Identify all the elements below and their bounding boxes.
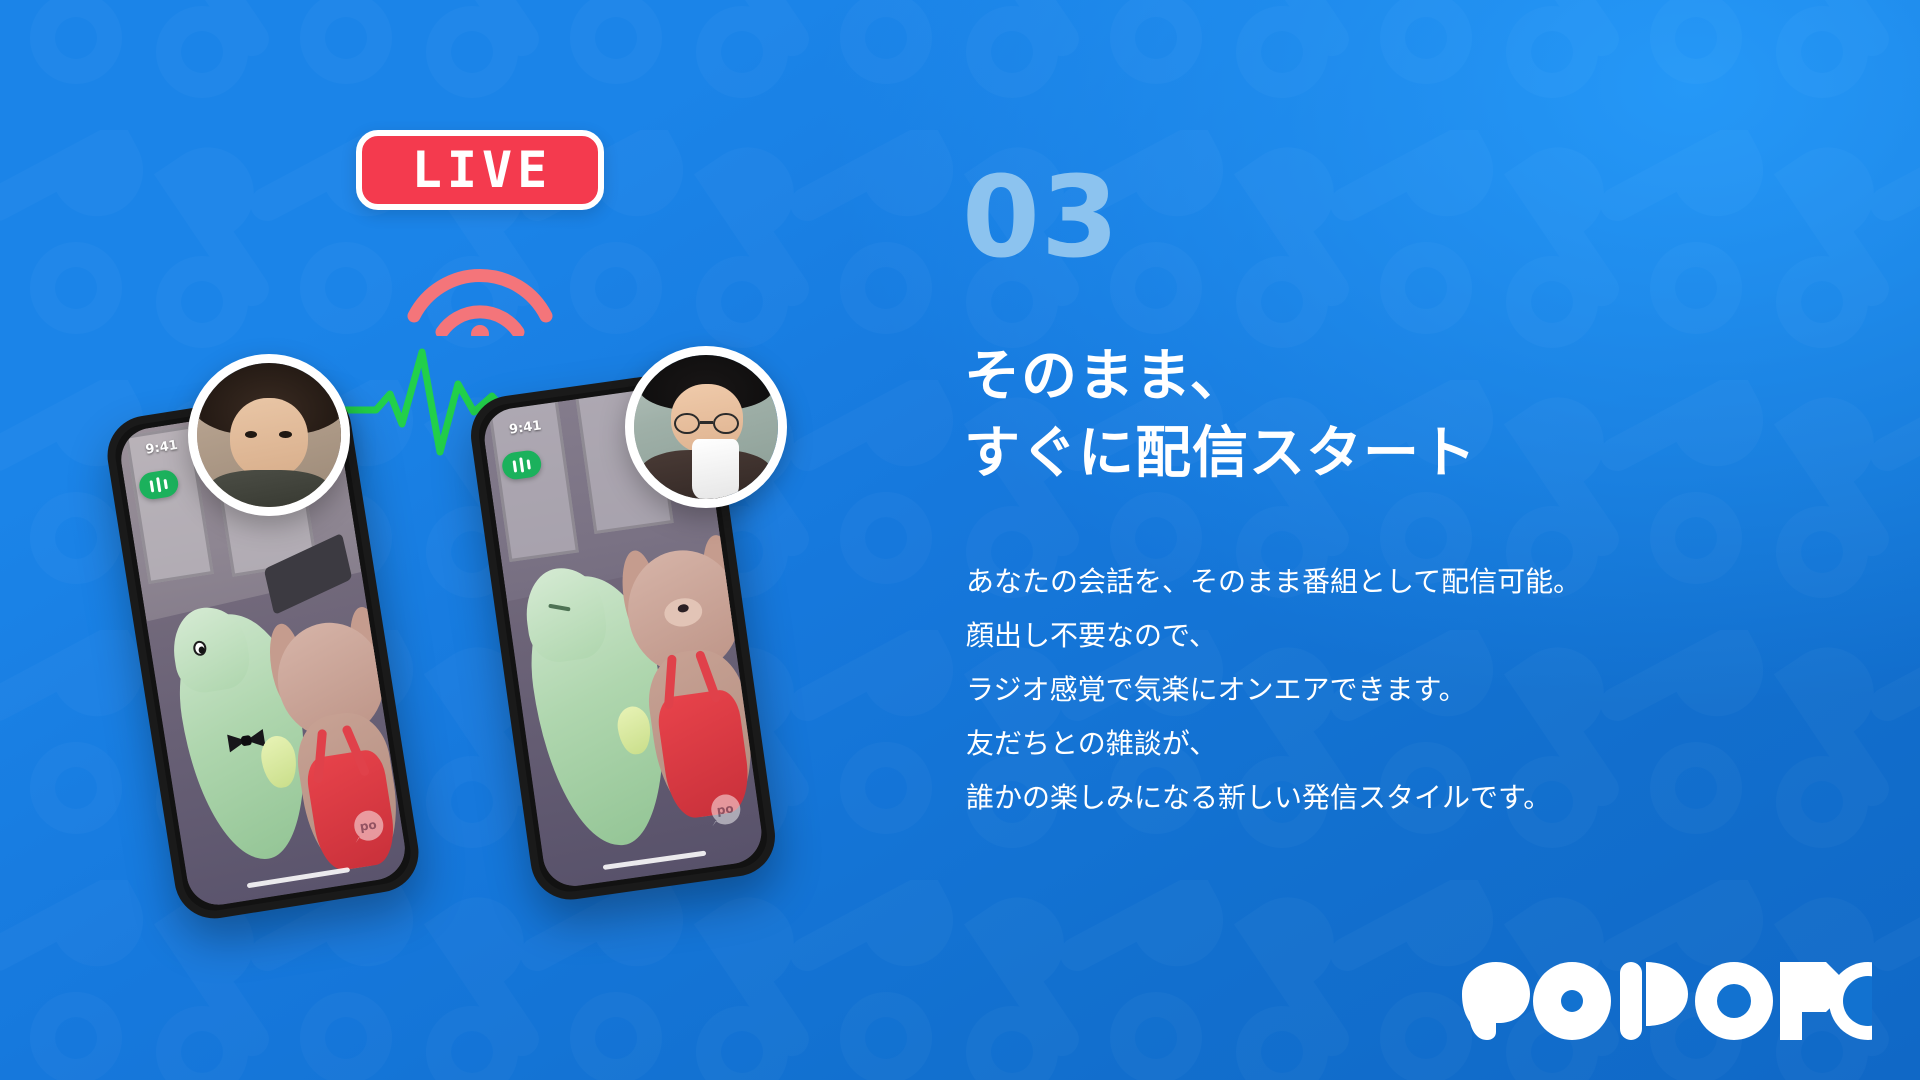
svg-text:po: po: [716, 801, 735, 817]
body-line: 顔出し不要なので、: [966, 622, 1581, 650]
live-badge: LIVE: [356, 130, 604, 210]
body-line: ラジオ感覚で気楽にオンエアできます。: [966, 676, 1581, 704]
content-column: 03 そのまま、 すぐに配信スタート あなたの会話を、そのまま番組として配信可能…: [962, 0, 1920, 1080]
avatar-speaker-left: [188, 354, 350, 516]
body-line: 友だちとの雑談が、: [966, 730, 1581, 758]
svg-text:po: po: [359, 817, 378, 833]
live-badge-label: LIVE: [408, 145, 552, 195]
brand-logo-popopo: [1460, 962, 1872, 1040]
avatar-speaker-right: [625, 346, 787, 508]
step-number: 03: [962, 162, 1120, 274]
illustration-area: LIVE: [0, 0, 880, 1080]
po-watermark-icon-left: po: [349, 806, 388, 845]
body-line: あなたの会話を、そのまま番組として配信可能。: [966, 568, 1581, 596]
po-watermark-icon-right: po: [706, 790, 744, 828]
body-copy: あなたの会話を、そのまま番組として配信可能。 顔出し不要なので、 ラジオ感覚で気…: [966, 568, 1581, 838]
body-line: 誰かの楽しみになる新しい発信スタイルです。: [966, 784, 1581, 812]
wifi-broadcast-icon: [400, 244, 560, 336]
slide-root: LIVE: [0, 0, 1920, 1080]
page-title: そのまま、 すぐに配信スタート: [964, 338, 1477, 493]
